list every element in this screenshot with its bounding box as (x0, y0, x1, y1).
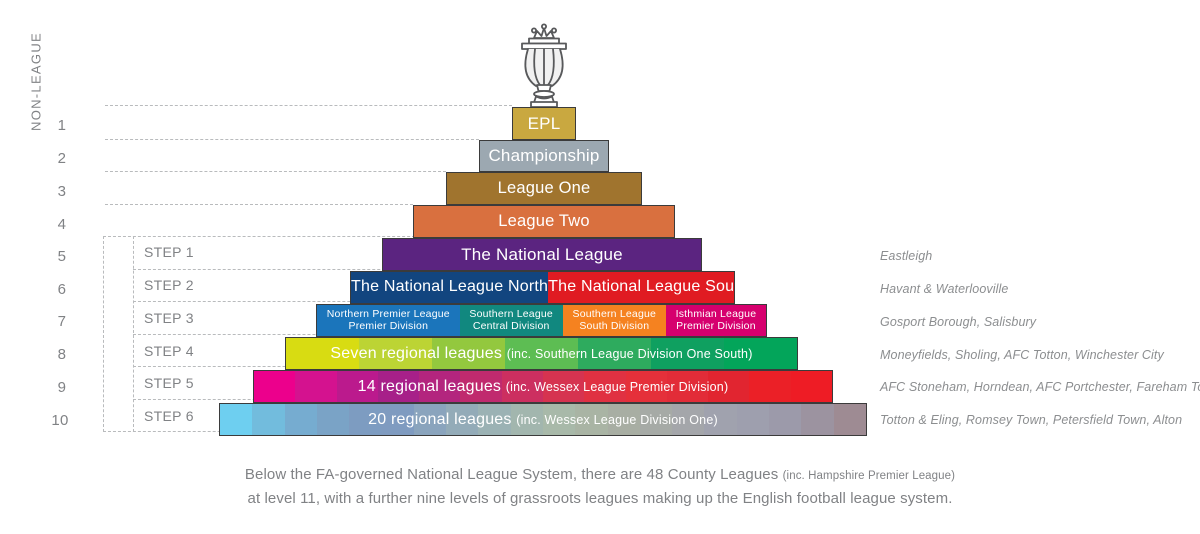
tier-segment-level-9-9[interactable] (584, 371, 625, 402)
tier-segment-level-9-11[interactable] (667, 371, 708, 402)
tier-segment-level-10-18[interactable] (769, 404, 801, 435)
tier-segment-level-8-7[interactable] (724, 338, 797, 369)
club-note-level-6: Havant & Waterlooville (880, 282, 1008, 296)
tier-segment-level-6-2[interactable]: The National League South (548, 272, 735, 303)
tier-segment-level-6-1[interactable]: The National League North (351, 272, 548, 303)
tier-bar-level-1[interactable]: EPL (512, 107, 576, 140)
tier-bar-level-3[interactable]: League One (446, 172, 642, 205)
level-number-4: 4 (42, 216, 82, 233)
tier-segment-level-10-6[interactable] (381, 404, 413, 435)
tier-segment-level-9-7[interactable] (502, 371, 543, 402)
tier-segment-level-10-10[interactable] (511, 404, 543, 435)
tier-segment-level-10-13[interactable] (608, 404, 640, 435)
tier-bar-level-5[interactable]: The National League (382, 238, 702, 271)
tier-segment-label-level-6-1: The National League North (351, 278, 548, 296)
tier-segment-level-10-16[interactable] (704, 404, 736, 435)
tier-segment-level-9-6[interactable] (460, 371, 501, 402)
tier-segment-level-10-15[interactable] (672, 404, 704, 435)
footer-line-1-paren: (inc. Hampshire Premier League) (783, 470, 955, 482)
tier-segment-level-8-2[interactable] (359, 338, 432, 369)
guide-line-top (105, 105, 512, 106)
level-number-3: 3 (42, 183, 82, 200)
tier-segment-level-9-2[interactable] (295, 371, 336, 402)
tier-segment-level-1-1[interactable]: EPL (513, 108, 575, 139)
tier-segment-level-10-20[interactable] (834, 404, 866, 435)
tier-segment-level-7-4[interactable]: Isthmian LeaguePremier Division (666, 305, 766, 336)
tier-segment-level-10-2[interactable] (252, 404, 284, 435)
tier-bar-level-6[interactable]: The National League NorthThe National Le… (350, 271, 735, 304)
tier-segment-level-10-7[interactable] (414, 404, 446, 435)
tier-segment-level-3-1[interactable]: League One (447, 173, 641, 204)
step-label-5: STEP 5 (144, 375, 194, 391)
guide-line-1 (105, 139, 479, 140)
footer-line-1: Below the FA-governed National League Sy… (0, 463, 1200, 487)
tier-segment-level-5-1[interactable]: The National League (383, 239, 701, 270)
step-label-1: STEP 1 (144, 244, 194, 260)
tier-bar-level-9[interactable]: 14 regional leagues (inc. Wessex League … (253, 370, 833, 403)
tier-segment-level-9-14[interactable] (791, 371, 832, 402)
tier-gradient-level-8 (286, 338, 797, 369)
tier-segment-level-8-5[interactable] (578, 338, 651, 369)
tier-segment-label-level-7-4: Isthmian LeaguePremier Division (676, 309, 757, 333)
tier-segment-level-10-19[interactable] (801, 404, 833, 435)
level-number-10: 10 (40, 412, 80, 429)
level-number-7: 7 (42, 313, 82, 330)
tier-segment-level-8-3[interactable] (432, 338, 505, 369)
tier-segment-label-level-1-1: EPL (528, 114, 561, 133)
tier-segment-level-9-3[interactable] (337, 371, 378, 402)
club-note-level-10: Totton & Eling, Romsey Town, Petersfield… (880, 413, 1182, 427)
non-league-label: NON-LEAGUE (29, 12, 44, 152)
tier-segment-level-10-11[interactable] (543, 404, 575, 435)
tier-segment-level-7-1[interactable]: Northern Premier LeaguePremier Division (317, 305, 460, 336)
tier-segment-label-level-7-1: Northern Premier LeaguePremier Division (327, 309, 450, 333)
tier-segment-level-7-2[interactable]: Southern LeagueCentral Division (460, 305, 563, 336)
step-label-4: STEP 4 (144, 343, 194, 359)
tier-segment-level-10-5[interactable] (349, 404, 381, 435)
club-note-level-7: Gosport Borough, Salisbury (880, 315, 1036, 329)
tier-segment-label-level-6-2: The National League South (548, 278, 735, 296)
tier-segment-level-9-13[interactable] (749, 371, 790, 402)
tier-segment-level-7-3[interactable]: Southern LeagueSouth Division (563, 305, 666, 336)
tier-segment-label-level-7-2: Southern LeagueCentral Division (469, 309, 553, 333)
club-note-level-5: Eastleigh (880, 249, 932, 263)
club-note-level-9: AFC Stoneham, Horndean, AFC Portchester,… (880, 380, 1200, 394)
tier-bar-level-2[interactable]: Championship (479, 140, 609, 172)
tier-segment-level-9-10[interactable] (626, 371, 667, 402)
tier-segment-level-9-12[interactable] (708, 371, 749, 402)
tier-segment-level-10-3[interactable] (285, 404, 317, 435)
footer-line-1-main: Below the FA-governed National League Sy… (245, 466, 783, 483)
tier-bar-level-7[interactable]: Northern Premier LeaguePremier DivisionS… (316, 304, 767, 337)
tier-segment-label-level-5-1: The National League (461, 245, 623, 264)
tier-segment-label-level-3-1: League One (498, 179, 591, 198)
tier-segment-label-level-2-1: Championship (488, 146, 599, 165)
level-number-6: 6 (42, 281, 82, 298)
footer-caption: Below the FA-governed National League Sy… (0, 463, 1200, 511)
level-number-2: 2 (42, 150, 82, 167)
tier-segment-level-10-4[interactable] (317, 404, 349, 435)
tier-segment-level-10-14[interactable] (640, 404, 672, 435)
step-label-2: STEP 2 (144, 277, 194, 293)
tier-segment-level-9-8[interactable] (543, 371, 584, 402)
level-number-5: 5 (42, 248, 82, 265)
tier-gradient-level-9 (254, 371, 832, 402)
tier-segment-level-10-8[interactable] (446, 404, 478, 435)
tier-segment-label-level-4-1: League Two (498, 212, 590, 231)
tier-segment-level-9-1[interactable] (254, 371, 295, 402)
tier-segment-level-9-4[interactable] (378, 371, 419, 402)
tier-segment-level-4-1[interactable]: League Two (414, 206, 674, 237)
tier-segment-label-level-7-3: Southern LeagueSouth Division (573, 309, 657, 333)
pyramid-diagram: 1 2 3 4 5 6 7 8 9 10 NON-LEAGUE STEP 1 S… (0, 0, 1200, 534)
tier-segment-level-8-6[interactable] (651, 338, 724, 369)
guide-line-2 (105, 171, 446, 172)
tier-bar-level-8[interactable]: Seven regional leagues (inc. Southern Le… (285, 337, 798, 370)
level-number-9: 9 (42, 379, 82, 396)
step-label-6: STEP 6 (144, 408, 194, 424)
tier-segment-level-10-17[interactable] (737, 404, 769, 435)
tier-segment-level-8-1[interactable] (286, 338, 359, 369)
tier-segment-level-8-4[interactable] (505, 338, 578, 369)
level-number-8: 8 (42, 346, 82, 363)
tier-segment-level-10-9[interactable] (478, 404, 510, 435)
tier-segment-level-10-12[interactable] (575, 404, 607, 435)
tier-gradient-level-10 (220, 404, 866, 435)
tier-bar-level-4[interactable]: League Two (413, 205, 675, 238)
club-note-level-8: Moneyfields, Sholing, AFC Totton, Winche… (880, 348, 1164, 362)
trophy-icon (507, 22, 581, 114)
guide-line-3 (105, 204, 413, 205)
level-number-1: 1 (42, 117, 82, 134)
tier-segment-level-10-1[interactable] (220, 404, 252, 435)
tier-bar-level-10[interactable]: 20 regional leagues (inc. Wessex League … (219, 403, 867, 436)
step-label-3: STEP 3 (144, 310, 194, 326)
footer-line-2: at level 11, with a further nine levels … (0, 487, 1200, 511)
tier-segment-level-2-1[interactable]: Championship (480, 141, 608, 171)
tier-segment-level-9-5[interactable] (419, 371, 460, 402)
